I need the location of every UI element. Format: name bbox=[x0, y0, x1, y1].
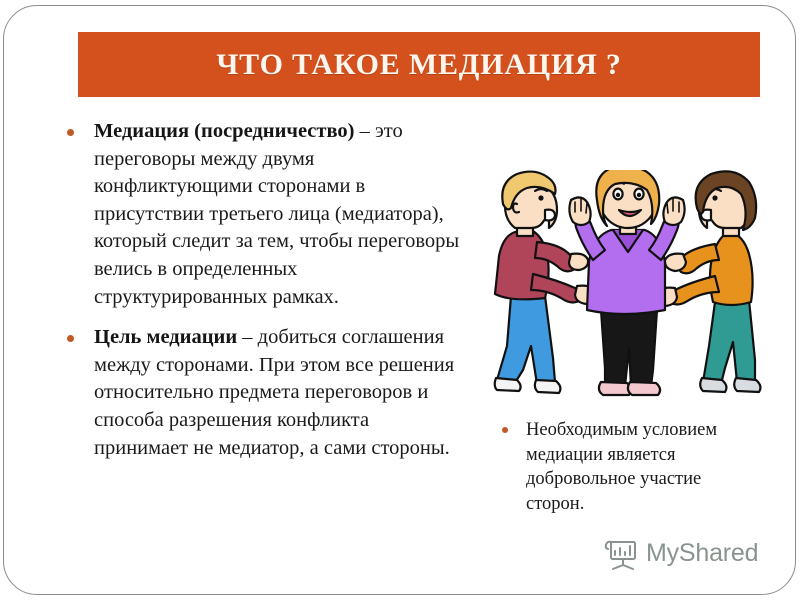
page-title: ЧТО ТАКОЕ МЕДИАЦИЯ ? bbox=[216, 48, 621, 82]
bullet-dot-icon bbox=[67, 335, 74, 342]
bullet-dot-icon bbox=[67, 129, 74, 136]
right-text-column: Необходимым условием медиации является д… bbox=[494, 418, 744, 516]
bullet-paragraph-2: Цель медиации – добиться соглашения межд… bbox=[58, 324, 460, 462]
presentation-board-icon bbox=[604, 536, 640, 570]
myshared-watermark: MyShared bbox=[604, 536, 758, 570]
bullet-dot-icon bbox=[502, 427, 508, 433]
bullet-lead-term-2: Цель медиации bbox=[94, 326, 237, 348]
bullet-paragraph-1: Медиация (посредничество) – это перегово… bbox=[58, 118, 460, 311]
three-people-mediation-clipart bbox=[493, 170, 771, 408]
bullet-paragraph-3: Необходимым условием медиации является д… bbox=[494, 418, 744, 516]
left-text-column: Медиация (посредничество) – это перегово… bbox=[58, 118, 460, 462]
bullet-lead-term-1: Медиация (посредничество) bbox=[94, 120, 354, 142]
title-banner: ЧТО ТАКОЕ МЕДИАЦИЯ ? bbox=[78, 32, 760, 97]
slide-canvas: ЧТО ТАКОЕ МЕДИАЦИЯ ? Медиация (посреднич… bbox=[0, 0, 800, 600]
bullet-body-text-1: – это переговоры между двумя конфликтующ… bbox=[94, 120, 459, 308]
bullet-body-text-3: Необходимым условием медиации является д… bbox=[526, 420, 717, 514]
watermark-label: MyShared bbox=[646, 539, 758, 568]
